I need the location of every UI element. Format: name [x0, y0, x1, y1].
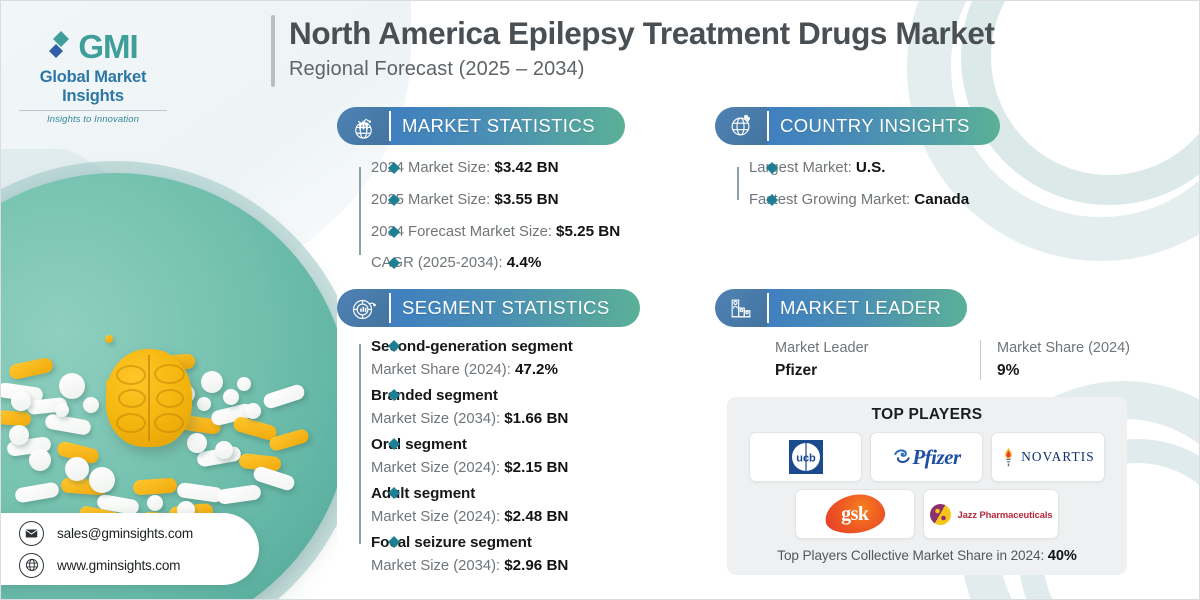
- novartis-wordmark: NOVARTIS: [1021, 449, 1095, 465]
- top-players-footer: Top Players Collective Market Share in 2…: [777, 548, 1076, 564]
- market-leader-column: Market Leader Pfizer: [775, 340, 980, 380]
- timeline-spine: [737, 167, 739, 200]
- page-subtitle: Regional Forecast (2025 – 2034): [289, 58, 995, 81]
- gsk-wordmark: gsk: [841, 503, 868, 526]
- list-item-label: Market Size (2034):: [371, 558, 504, 574]
- market-leader-value: Pfizer: [775, 362, 980, 380]
- top-players-row-1: ucb Pfizer NOVARTIS: [749, 432, 1105, 482]
- list-item: Adult segment: [371, 485, 640, 503]
- list-item-value: $3.42 BN: [494, 159, 558, 176]
- brain-model-icon: [106, 349, 192, 447]
- section-title-text: SEGMENT STATISTICS: [402, 297, 610, 319]
- top-players-row-2: gsk Jazz Pharmaceuticals: [795, 489, 1059, 539]
- list-item-value: $2.15 BN: [504, 459, 568, 476]
- gsk-logo-icon: gsk: [823, 491, 888, 537]
- section-market-leader: MARKET LEADER Market Leader Pfizer Marke…: [715, 289, 1200, 380]
- list-item: Second-generation segment: [371, 338, 640, 356]
- segment-statistics-list: Second-generation segment Market Share (…: [337, 338, 640, 575]
- pfizer-swirl-icon: [892, 447, 912, 467]
- pie-analytics-icon: [337, 289, 389, 327]
- section-title-pill: SEGMENT STATISTICS: [388, 289, 640, 327]
- globe-pin-icon: [715, 107, 767, 145]
- list-item: Oral segment: [371, 436, 640, 454]
- list-item-value: 4.4%: [507, 254, 542, 271]
- svg-text:ucb: ucb: [796, 453, 816, 465]
- section-segment-statistics: SEGMENT STATISTICS Second-generation seg…: [337, 289, 640, 575]
- section-header-country-insights: COUNTRY INSIGHTS: [715, 107, 1000, 145]
- diamond-mark-icon: [48, 30, 74, 64]
- segment-name: Oral segment: [371, 436, 467, 453]
- section-title-pill: COUNTRY INSIGHTS: [766, 107, 1000, 145]
- timeline-spine: [359, 344, 361, 544]
- section-title-pill: MARKET STATISTICS: [388, 107, 625, 145]
- page-title: North America Epilepsy Treatment Drugs M…: [289, 15, 995, 51]
- market-statistics-list: 2024 Market Size: $3.42 BN 2025 Market S…: [337, 159, 625, 272]
- top-players-title: TOP PLAYERS: [872, 406, 983, 424]
- segment-name: Second-generation segment: [371, 338, 573, 355]
- logo-divider: [19, 110, 167, 111]
- header-divider: [389, 111, 391, 141]
- ucb-logo-icon: ucb: [789, 440, 823, 474]
- section-header-segment-statistics: SEGMENT STATISTICS: [337, 289, 640, 327]
- list-item-detail: Market Size (2024): $2.48 BN: [371, 508, 640, 526]
- globe-icon: [19, 553, 44, 578]
- list-item-value: $1.66 BN: [504, 410, 568, 427]
- list-item: Branded segment: [371, 387, 640, 405]
- novartis-flame-icon: [1001, 447, 1016, 467]
- market-leader-body: Market Leader Pfizer Market Share (2024)…: [715, 340, 1200, 380]
- segment-name: Adult segment: [371, 485, 475, 502]
- market-share-value: 9%: [997, 362, 1200, 380]
- list-item: Focal seizure segment: [371, 534, 640, 552]
- list-item: Largest Market: U.S.: [749, 159, 1000, 177]
- list-item: CAGR (2025-2034): 4.4%: [371, 254, 625, 272]
- section-title-pill: MARKET LEADER: [766, 289, 967, 327]
- list-item: 2025 Market Size: $3.55 BN: [371, 191, 625, 209]
- list-item-label: Market Size (2024):: [371, 509, 504, 525]
- contact-chip: sales@gminsights.com www.gminsights.com: [0, 513, 259, 585]
- header-divider: [767, 111, 769, 141]
- page-title-block: North America Epilepsy Treatment Drugs M…: [271, 15, 995, 87]
- list-item: 2034 Forecast Market Size: $5.25 BN: [371, 223, 625, 241]
- gmi-logo[interactable]: GMI Global Market Insights Insights to I…: [13, 27, 173, 125]
- logo-company-name: Global Market Insights: [13, 68, 173, 106]
- list-item-value: $5.25 BN: [556, 223, 620, 240]
- market-share-label: Market Share (2024): [997, 340, 1200, 356]
- list-item-label: Market Size (2034):: [371, 411, 504, 427]
- list-item-value: 47.2%: [515, 361, 558, 378]
- jazz-wordmark: Jazz Pharmaceuticals: [958, 509, 1053, 520]
- list-item: Fastest Growing Market: Canada: [749, 191, 1000, 209]
- header-divider: [767, 293, 769, 323]
- player-logo-gsk[interactable]: gsk: [795, 489, 915, 539]
- logo-tagline: Insights to Innovation: [13, 114, 173, 125]
- section-market-statistics: MARKET STATISTICS 2024 Market Size: $3.4…: [337, 107, 625, 272]
- list-item-detail: Market Size (2034): $2.96 BN: [371, 557, 640, 575]
- top-players-footer-label: Top Players Collective Market Share in 2…: [777, 548, 1048, 563]
- globe-chart-icon: [337, 107, 389, 145]
- infographic-root: GMI Global Market Insights Insights to I…: [0, 0, 1200, 600]
- pfizer-wordmark: Pfizer: [912, 445, 960, 470]
- list-item-value: $2.96 BN: [504, 557, 568, 574]
- section-title-text: MARKET STATISTICS: [402, 115, 595, 137]
- list-item-value: $3.55 BN: [494, 191, 558, 208]
- list-item-label: Market Share (2024):: [371, 362, 515, 378]
- section-title-text: COUNTRY INSIGHTS: [780, 115, 970, 137]
- top-players-panel: TOP PLAYERS ucb Pfizer: [727, 397, 1127, 575]
- list-item-label: Largest Market:: [749, 160, 856, 176]
- timeline-spine: [359, 167, 361, 255]
- header-divider: [389, 293, 391, 323]
- section-header-market-leader: MARKET LEADER: [715, 289, 1200, 327]
- section-header-market-statistics: MARKET STATISTICS: [337, 107, 625, 145]
- section-country-insights: COUNTRY INSIGHTS Largest Market: U.S. Fa…: [715, 107, 1000, 209]
- list-item-value: $2.48 BN: [504, 508, 568, 525]
- list-item-label: Market Size (2024):: [371, 460, 504, 476]
- jazz-logo-icon: [930, 504, 951, 525]
- contact-email-text: sales@gminsights.com: [57, 526, 193, 541]
- logo-mark-row: GMI: [13, 27, 173, 67]
- player-logo-jazz[interactable]: Jazz Pharmaceuticals: [923, 489, 1059, 539]
- list-item-detail: Market Size (2024): $2.15 BN: [371, 459, 640, 477]
- list-item-value: Canada: [914, 191, 969, 208]
- contact-website-row[interactable]: www.gminsights.com: [19, 553, 259, 578]
- logo-gmi-text: GMI: [78, 30, 137, 64]
- list-item-detail: Market Size (2034): $1.66 BN: [371, 410, 640, 428]
- player-logo-pfizer[interactable]: Pfizer: [870, 432, 983, 482]
- contact-email-row[interactable]: sales@gminsights.com: [19, 521, 259, 546]
- list-item-detail: Market Share (2024): 47.2%: [371, 361, 640, 379]
- title-accent-bar: [271, 15, 275, 87]
- section-title-text: MARKET LEADER: [780, 297, 941, 319]
- market-share-column: Market Share (2024) 9%: [980, 340, 1200, 380]
- list-item: 2024 Market Size: $3.42 BN: [371, 159, 625, 177]
- player-logo-novartis[interactable]: NOVARTIS: [991, 432, 1105, 482]
- country-insights-list: Largest Market: U.S. Fastest Growing Mar…: [715, 159, 1000, 209]
- top-players-footer-value: 40%: [1048, 548, 1077, 564]
- market-leader-label: Market Leader: [775, 340, 980, 356]
- podium-icon: [715, 289, 767, 327]
- contact-website-text: www.gminsights.com: [57, 558, 180, 573]
- list-item-value: U.S.: [856, 159, 886, 176]
- player-logo-ucb[interactable]: ucb: [749, 432, 862, 482]
- envelope-icon: [19, 521, 44, 546]
